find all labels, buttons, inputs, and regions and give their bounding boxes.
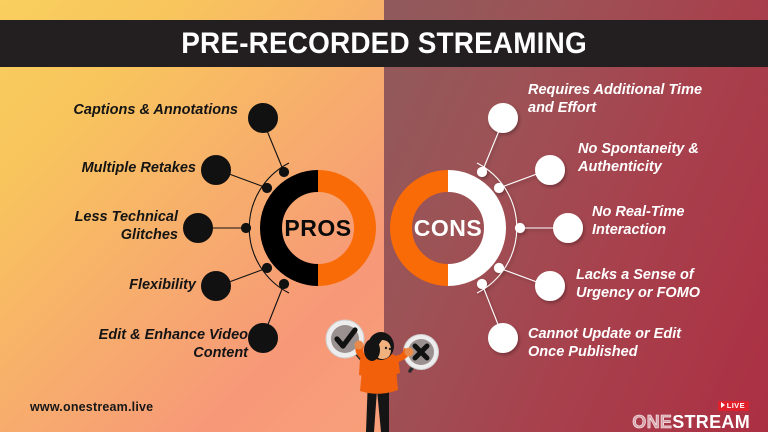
- pros-node-2: [202, 156, 231, 185]
- pros-label-3: Less Technical Glitches: [0, 209, 178, 244]
- cons-node-4: [536, 272, 565, 301]
- live-badge: LIVE: [718, 401, 749, 412]
- pros-label-5: Edit & Enhance Video Content: [38, 327, 248, 362]
- cons-node-3: [554, 214, 583, 243]
- pros-center-label: PROS: [284, 215, 351, 241]
- pros-node-4: [202, 272, 231, 301]
- pros-label-4: Flexibility: [0, 277, 196, 295]
- cons-label-2: No Spontaneity & Authenticity: [578, 141, 768, 176]
- play-triangle-icon: [721, 402, 725, 408]
- logo-wordmark: ONESTREAM: [632, 413, 750, 431]
- cons-node-2: [536, 156, 565, 185]
- onestream-logo[interactable]: LIVE ONESTREAM: [632, 396, 750, 431]
- pros-node-3: [184, 214, 213, 243]
- title-band: PRE-RECORDED STREAMING: [0, 20, 768, 67]
- cons-label-5: Cannot Update or Edit Once Published: [528, 326, 758, 361]
- page-title: PRE-RECORDED STREAMING: [181, 27, 587, 61]
- cons-node-5: [489, 324, 518, 353]
- infographic-canvas: PRE-RECORDED STREAMING: [0, 0, 768, 432]
- cons-label-4: Lacks a Sense of Urgency or FOMO: [576, 267, 768, 302]
- cons-center-label: CONS: [414, 215, 482, 241]
- logo-word-one: ONE: [632, 412, 672, 432]
- cons-node-1: [489, 104, 518, 133]
- footer-website-url[interactable]: www.onestream.live: [30, 400, 153, 414]
- pros-label-1: Captions & Annotations: [0, 102, 238, 120]
- cons-label-1: Requires Additional Time and Effort: [528, 82, 763, 117]
- pros-node-1: [249, 104, 278, 133]
- person-illustration: [326, 320, 439, 432]
- live-badge-text: LIVE: [727, 401, 745, 410]
- pros-label-2: Multiple Retakes: [0, 160, 196, 178]
- pros-node-5: [249, 324, 278, 353]
- cons-label-3: No Real-Time Interaction: [592, 204, 768, 239]
- logo-word-stream: STREAM: [672, 412, 750, 432]
